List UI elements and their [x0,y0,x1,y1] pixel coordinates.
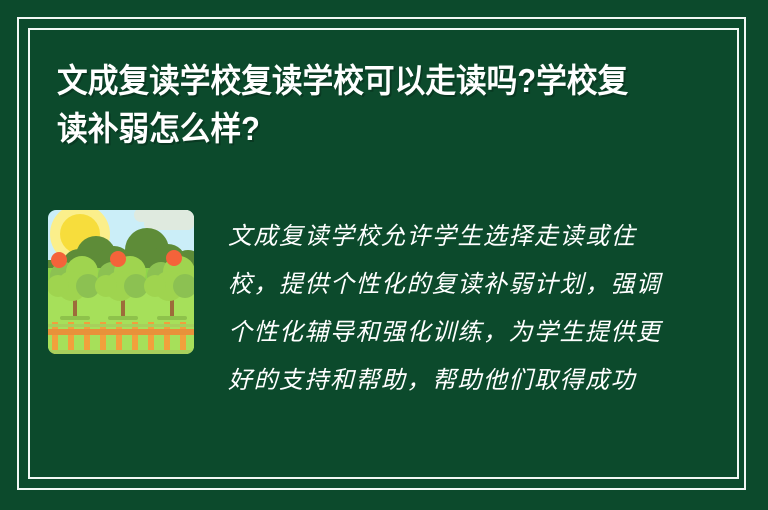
fruit-1 [51,252,67,268]
info-card: 文成复读学校复读学校可以走读吗?学校复读补弱怎么样? [0,0,768,510]
fruit-2 [110,251,126,267]
orchard-illustration [48,198,208,363]
fruit-3 [166,250,182,266]
page-title: 文成复读学校复读学校可以走读吗?学校复读补弱怎么样? [57,57,652,153]
body-paragraph: 文成复读学校允许学生选择走读或住校，提供个性化的复读补弱计划，强调个性化辅导和强… [228,212,668,404]
